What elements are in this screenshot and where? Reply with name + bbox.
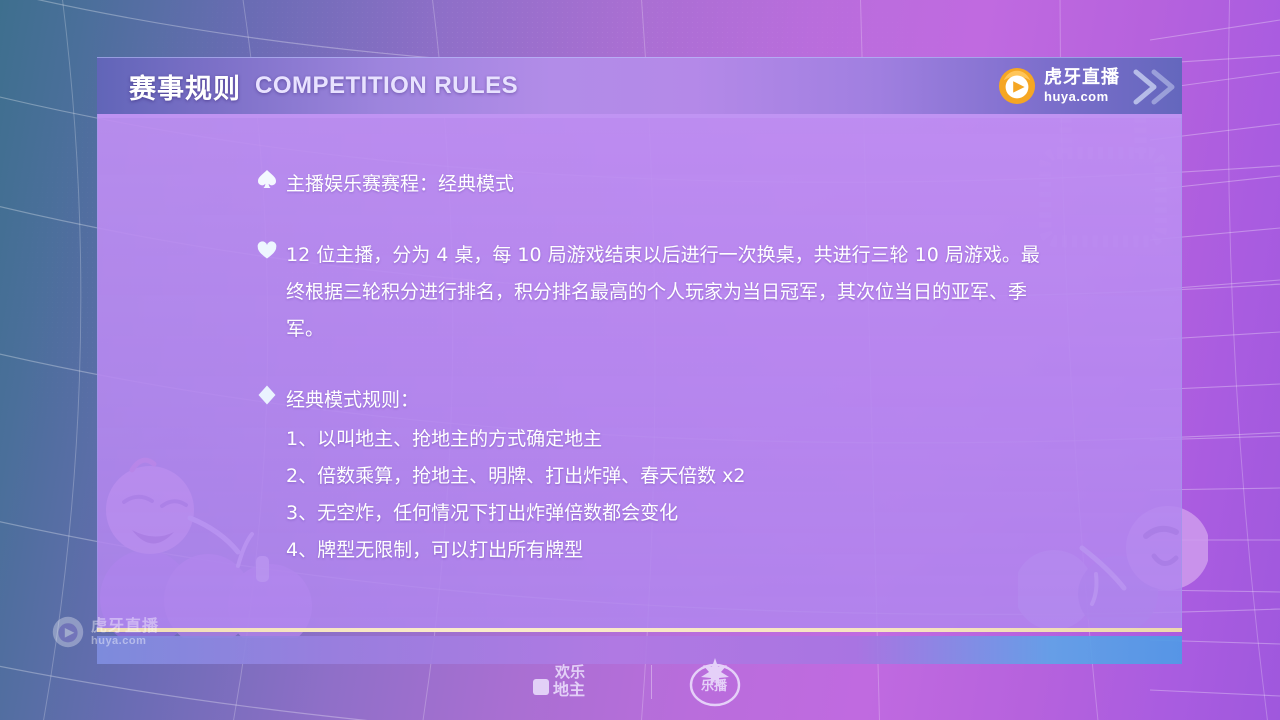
page-title-en: COMPETITION RULES — [255, 72, 518, 100]
huya-tiger-play-icon — [52, 616, 84, 648]
huya-watermark: 虎牙直播 huya.com — [52, 616, 159, 648]
bottom-logos: 欢乐 地主 乐播 — [0, 656, 1280, 708]
huya-tiger-play-icon — [998, 67, 1036, 105]
panel-header: 赛事规则 COMPETITION RULES 虎牙直播 huya.com — [97, 57, 1182, 114]
huya-logo: 虎牙直播 huya.com — [998, 67, 1120, 105]
huya-name-en: huya.com — [1044, 90, 1120, 103]
chevron-right-icon — [1130, 62, 1176, 112]
rules-panel: 赛事规则 COMPETITION RULES 虎牙直播 huya.com — [97, 57, 1182, 632]
svg-text:乐播: 乐播 — [701, 678, 728, 694]
rule-text-format: 12 位主播，分为 4 桌，每 10 局游戏结束以后进行一次换桌，共进行三轮 1… — [286, 237, 1046, 348]
heart-icon — [256, 237, 286, 348]
spade-icon — [256, 166, 286, 203]
huya-name-cn: 虎牙直播 — [1044, 69, 1120, 87]
classic-rules-list: 1、以叫地主、抢地主的方式确定地主 2、倍数乘算，抢地主、明牌、打出炸弹、春天倍… — [286, 421, 745, 569]
svg-text:地主: 地主 — [553, 680, 585, 699]
rule-block-schedule: 主播娱乐赛赛程：经典模式 — [256, 166, 1135, 203]
diamond-icon — [256, 382, 286, 569]
logo-separator — [651, 665, 652, 699]
star-badge-logo: 乐播 — [678, 656, 752, 708]
rule-text-classic-heading: 经典模式规则： — [286, 382, 745, 419]
rule-block-classic: 经典模式规则： 1、以叫地主、抢地主的方式确定地主 2、倍数乘算，抢地主、明牌、… — [256, 382, 1135, 569]
rule-text-schedule: 主播娱乐赛赛程：经典模式 — [286, 166, 514, 203]
watermark-name-cn: 虎牙直播 — [91, 618, 159, 634]
slide-canvas: 赛事规则 COMPETITION RULES 虎牙直播 huya.com — [0, 0, 1280, 720]
panel-gold-divider — [97, 628, 1182, 632]
panel-body: 主播娱乐赛赛程：经典模式 12 位主播，分为 4 桌，每 10 局游戏结束以后进… — [97, 114, 1182, 628]
rule-block-format: 12 位主播，分为 4 桌，每 10 局游戏结束以后进行一次换桌，共进行三轮 1… — [256, 237, 1135, 348]
ddz-game-logo: 欢乐 地主 — [529, 657, 625, 707]
watermark-name-en: huya.com — [91, 636, 159, 647]
svg-text:欢乐: 欢乐 — [554, 663, 585, 681]
list-item: 1、以叫地主、抢地主的方式确定地主 — [286, 421, 745, 458]
list-item: 3、无空炸，任何情况下打出炸弹倍数都会变化 — [286, 495, 745, 532]
list-item: 4、牌型无限制，可以打出所有牌型 — [286, 532, 745, 569]
list-item: 2、倍数乘算，抢地主、明牌、打出炸弹、春天倍数 x2 — [286, 458, 745, 495]
page-title-cn: 赛事规则 — [129, 67, 241, 106]
rules-content: 主播娱乐赛赛程：经典模式 12 位主播，分为 4 桌，每 10 局游戏结束以后进… — [98, 114, 1181, 569]
